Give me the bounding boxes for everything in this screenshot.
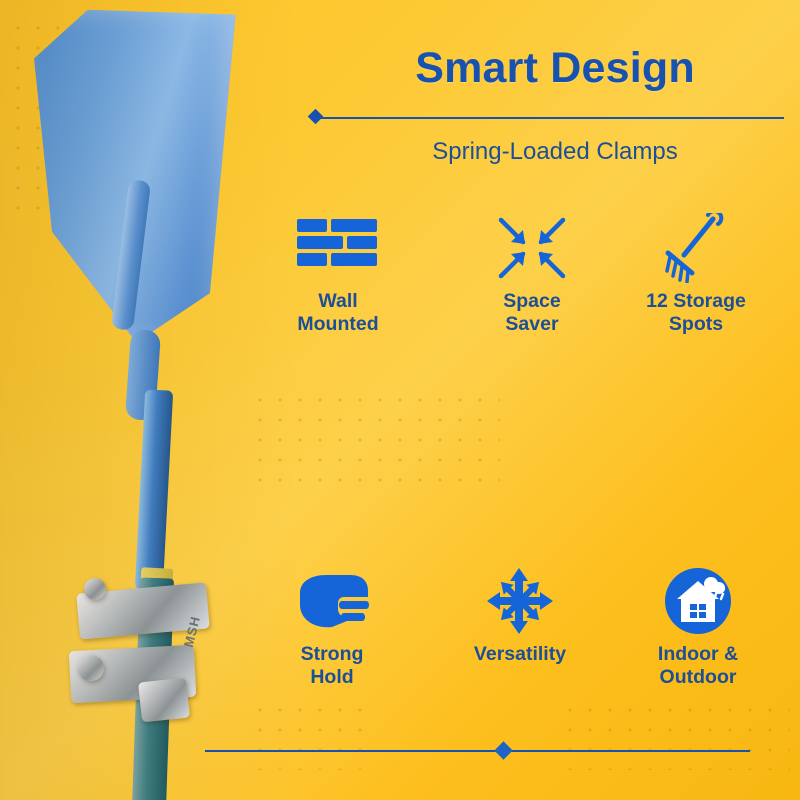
feature-label-line2: Outdoor	[660, 666, 737, 688]
feature-label-line2: Hold	[310, 666, 353, 688]
feature-label-line1: Versatility	[474, 643, 566, 665]
dot-pattern-bottom-right	[560, 700, 790, 770]
feature-label: Indoor & Outdoor	[618, 643, 778, 689]
footer-divider-diamond	[494, 741, 512, 759]
page-subtitle: Spring-Loaded Clamps	[330, 138, 780, 166]
feature-label: 12 Storage Spots	[616, 290, 776, 336]
page-title: Smart Design	[330, 44, 780, 93]
feature-label: Strong Hold	[252, 643, 412, 689]
feature-label-line1: Wall	[318, 290, 357, 312]
feature-storage-spots: 12 Storage Spots	[616, 212, 776, 336]
feature-label-line1: Space	[503, 290, 560, 312]
footer-divider-line	[205, 750, 750, 752]
feature-label-line2: Saver	[505, 313, 558, 335]
arrows-inward-icon	[452, 212, 612, 284]
brick-wall-icon	[258, 212, 418, 284]
product-feature-infographic: MSH Smart Design Spring-Loaded Clamps Wa…	[0, 0, 800, 800]
feature-label-line1: 12 Storage	[646, 290, 746, 312]
feature-label-line2: Spots	[669, 313, 723, 335]
feature-label-line2: Mounted	[297, 313, 378, 335]
feature-indoor-outdoor: Indoor & Outdoor	[618, 565, 778, 689]
spring-clamp-mounting-plate	[138, 678, 190, 723]
feature-label-line1: Strong	[301, 643, 364, 665]
feature-label: Versatility	[440, 643, 600, 666]
feature-label: Space Saver	[452, 290, 612, 336]
header-divider-diamond	[308, 109, 324, 125]
feature-label-line1: Indoor &	[658, 643, 738, 665]
feature-space-saver: Space Saver	[452, 212, 612, 336]
house-weather-icon	[618, 565, 778, 637]
rake-tool-icon	[616, 212, 776, 284]
header-divider-line	[314, 117, 784, 119]
feature-versatility: Versatility	[440, 565, 600, 666]
four-way-arrows-icon	[440, 565, 600, 637]
feature-label: Wall Mounted	[258, 290, 418, 336]
feature-wall-mounted: Wall Mounted	[258, 212, 418, 336]
clenched-fist-icon	[252, 565, 412, 637]
spring-clamp-upper-screw	[84, 578, 106, 600]
feature-strong-hold: Strong Hold	[252, 565, 412, 689]
spring-clamp-lower-screw	[78, 655, 104, 681]
